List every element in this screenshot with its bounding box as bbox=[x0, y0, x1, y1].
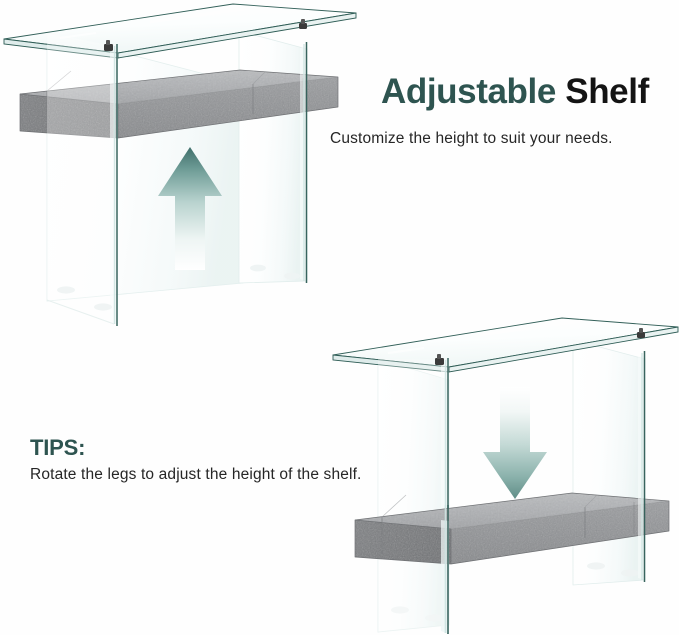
metal-bracket-2 bbox=[435, 328, 645, 365]
concrete-look-shelf bbox=[20, 70, 338, 138]
page-subtitle: Customize the height to suit your needs. bbox=[330, 131, 613, 147]
console-table-shelf-high bbox=[4, 4, 356, 326]
tempered-glass-tabletop bbox=[4, 4, 356, 58]
glass-panel-leg-right-back bbox=[239, 31, 307, 283]
glass-panel-leg-front-2 bbox=[378, 358, 449, 634]
glass-panel-leg-back-2 bbox=[378, 359, 449, 632]
console-table-shelf-low bbox=[333, 318, 678, 634]
page-title-accent: Adjustable bbox=[381, 72, 556, 111]
page-title-plain: Shelf bbox=[565, 72, 649, 111]
up-arrow-icon bbox=[158, 147, 222, 270]
glass-panel-leg-back bbox=[47, 33, 243, 301]
glass-panel-leg-front bbox=[47, 33, 118, 326]
metal-bracket bbox=[104, 19, 307, 51]
product-infographic-canvas: Adjustable Shelf Customize the height to… bbox=[0, 0, 679, 635]
tips-heading: TIPS: bbox=[30, 437, 85, 459]
page-title: Adjustable Shelf bbox=[381, 74, 649, 109]
tips-description: Rotate the legs to adjust the height of … bbox=[30, 467, 362, 483]
down-arrow-icon bbox=[483, 387, 547, 499]
concrete-look-shelf-2 bbox=[355, 493, 669, 564]
glass-panel-leg-right-back-2 bbox=[573, 340, 645, 585]
glass-panel-leg-right-front-2 bbox=[638, 351, 645, 582]
glass-panel-leg-front-2-overlay bbox=[441, 505, 449, 634]
tempered-glass-tabletop-2 bbox=[333, 318, 678, 372]
glass-panel-leg-right-front bbox=[300, 42, 307, 283]
